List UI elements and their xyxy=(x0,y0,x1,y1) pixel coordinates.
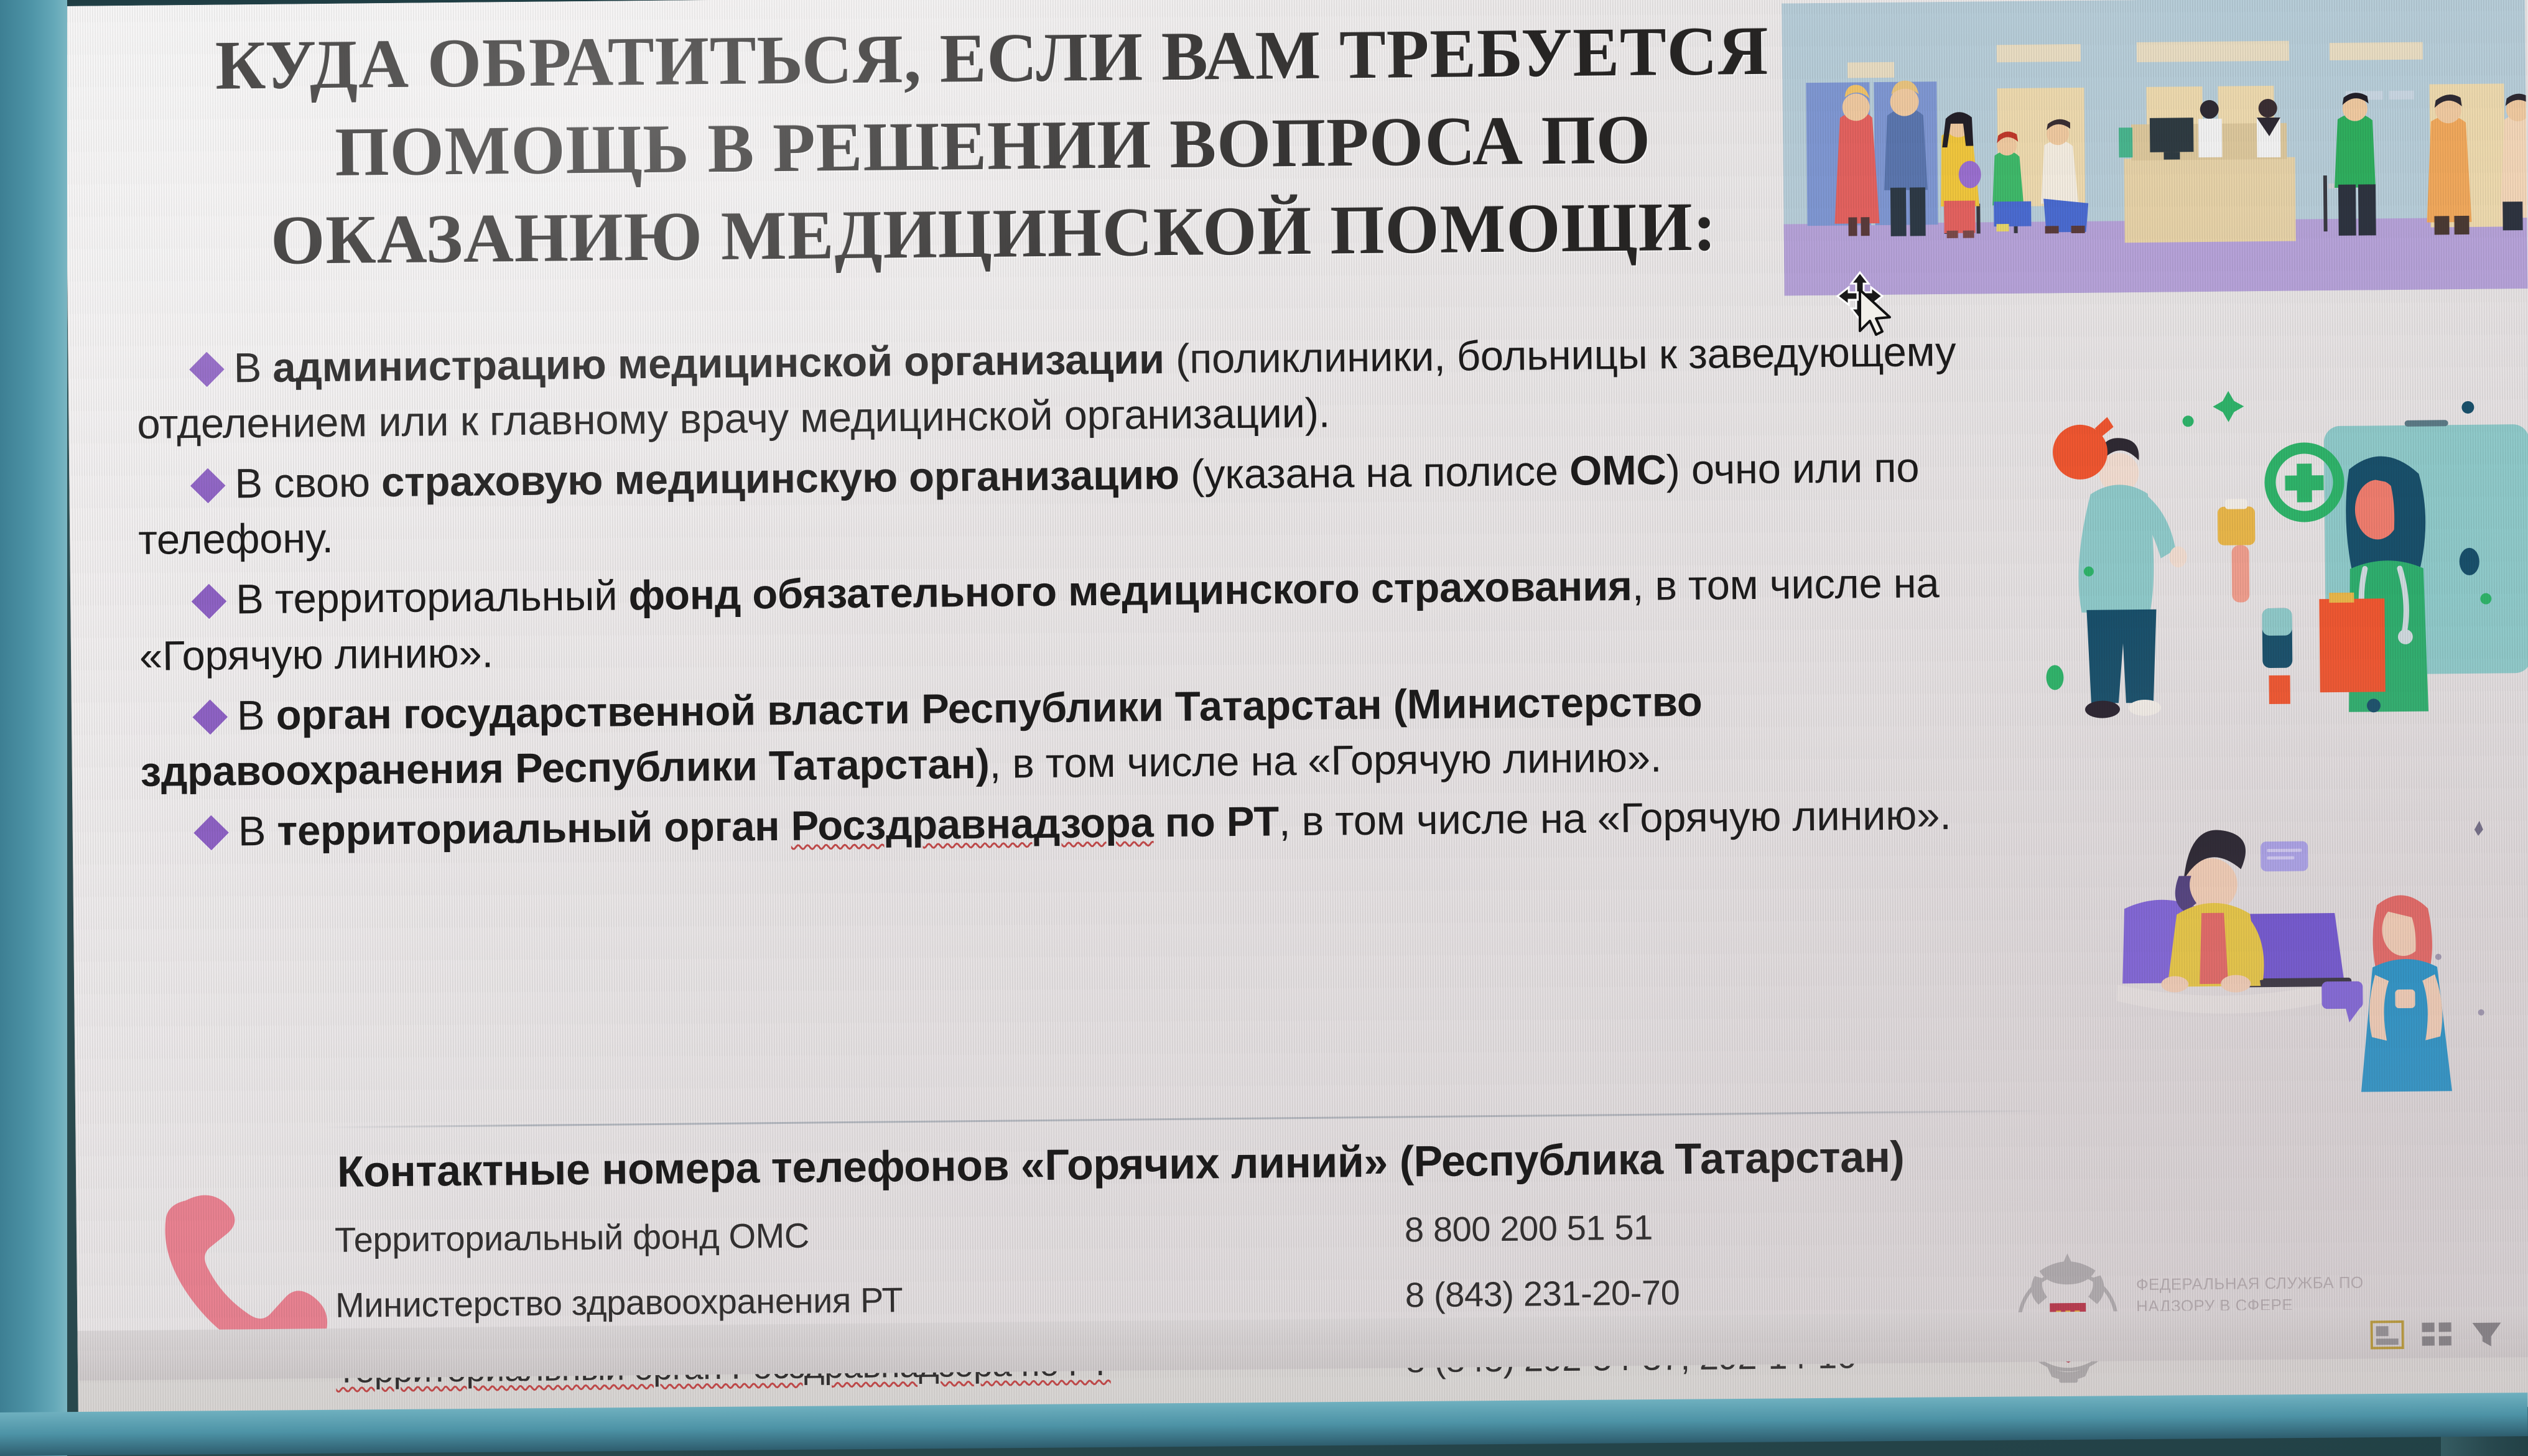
diamond-bullet-icon xyxy=(190,468,226,503)
bullet-5-rest: , в том числе на «Горячую линию». xyxy=(1279,792,1951,845)
clinic-waiting-room-illustration xyxy=(1782,0,2527,295)
telemedicine-doctor-illustration xyxy=(2025,381,2528,721)
bullet-item-4: В орган государственной власти Республик… xyxy=(140,670,2051,800)
diamond-bullet-icon xyxy=(193,815,229,851)
contact-label: Министерство здравоохранения РТ xyxy=(335,1274,1406,1325)
title-line-3: ОКАЗАНИЮ МЕДИЦИНСКОЙ ПОМОЩИ: xyxy=(172,182,1815,285)
bullet-2-oms: ОМС xyxy=(1569,447,1666,494)
bullet-1-bold: администрацию медицинской организации xyxy=(272,336,1164,391)
contact-label: Территориальный фонд ОМС xyxy=(335,1209,1405,1260)
bullet-2-lead: В свою xyxy=(235,459,381,507)
bullet-item-5: В территориальный орган Росздравнадзора … xyxy=(141,786,2051,860)
contact-phone: 8 (843) 231-20-70 xyxy=(1405,1269,2015,1315)
bullet-item-2: В свою страховую медицинскую организацию… xyxy=(137,439,2048,568)
normal-view-icon[interactable] xyxy=(2370,1320,2404,1350)
bullet-3-bold: фонд обязательного медицинского страхова… xyxy=(628,563,1632,619)
slide-title: КУДА ОБРАТИТЬСЯ, ЕСЛИ ВАМ ТРЕБУЕТСЯ ПОМО… xyxy=(170,7,1815,286)
monitor-bezel-left xyxy=(0,0,67,1456)
online-consultation-illustration xyxy=(2079,807,2528,1097)
contacts-heading: Контактные номера телефонов «Горячих лин… xyxy=(337,1129,2142,1197)
bullet-4-lead: В xyxy=(237,692,276,739)
move-drag-cursor xyxy=(1836,269,1911,356)
contacts-table: Территориальный фонд ОМС 8 800 200 51 51… xyxy=(335,1203,2016,1416)
view-buttons-group[interactable] xyxy=(2370,1319,2503,1350)
table-row: Территориальный фонд ОМС 8 800 200 51 51 xyxy=(335,1203,2014,1260)
section-divider xyxy=(324,1110,2047,1128)
bullet-5-misspelled-word: Росздравнадзора xyxy=(791,799,1154,850)
diamond-bullet-icon xyxy=(192,583,227,619)
presentation-slide: КУДА ОБРАТИТЬСЯ, ЕСЛИ ВАМ ТРЕБУЕТСЯ ПОМО… xyxy=(65,0,2528,1381)
bullet-2-bold: страховую медицинскую организацию xyxy=(381,452,1179,506)
diamond-bullet-icon xyxy=(193,700,228,735)
title-line-2: ПОМОЩЬ В РЕШЕНИИ ВОПРОСА ПО xyxy=(172,95,1815,198)
diamond-bullet-icon xyxy=(189,352,225,387)
contact-phone: 8 800 200 51 51 xyxy=(1405,1203,2015,1250)
bullet-2-mid: (указана на полисе xyxy=(1179,448,1569,498)
reading-view-icon[interactable] xyxy=(2470,1319,2503,1349)
bullet-5-bold: территориальный орган xyxy=(277,803,791,855)
title-line-1: КУДА ОБРАТИТЬСЯ, ЕСЛИ ВАМ ТРЕБУЕТСЯ xyxy=(170,7,1813,110)
photographed-monitor: КУДА ОБРАТИТЬСЯ, ЕСЛИ ВАМ ТРЕБУЕТСЯ ПОМО… xyxy=(0,0,2528,1456)
bullet-item-1: В администрацию медицинской организации … xyxy=(136,323,2047,452)
slide-body: В администрацию медицинской организации … xyxy=(136,323,2051,865)
bullet-4-rest: , в том числе на «Горячую линию». xyxy=(989,734,1661,787)
bullet-item-3: В территориальный фонд обязательного мед… xyxy=(139,555,2050,684)
bullet-5-lead: В xyxy=(238,808,277,855)
screen-area: КУДА ОБРАТИТЬСЯ, ЕСЛИ ВАМ ТРЕБУЕТСЯ ПОМО… xyxy=(65,0,2528,1430)
bullet-3-lead: В территориальный xyxy=(236,573,629,623)
bullet-5-bold2: по РТ xyxy=(1153,798,1279,846)
bullet-1-lead: В xyxy=(233,345,272,392)
slide-sorter-icon[interactable] xyxy=(2420,1319,2453,1350)
